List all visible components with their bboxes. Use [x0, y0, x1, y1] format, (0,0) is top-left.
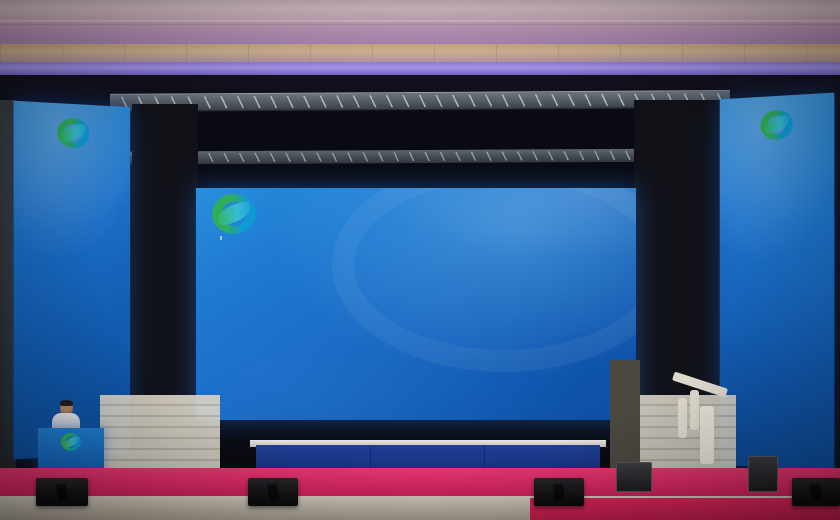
ceiling-ridge	[0, 20, 840, 25]
baluster	[678, 398, 687, 438]
floor-monitor-speaker	[248, 478, 298, 506]
podium-logo	[58, 433, 84, 455]
conference-stage-photo	[0, 0, 840, 520]
main-led-screen	[196, 188, 636, 420]
banner-right	[720, 93, 835, 472]
floor-monitor-speaker	[792, 478, 840, 506]
speaker-hair	[60, 400, 73, 406]
screen-year-block	[210, 236, 222, 240]
ceiling-led-strip	[0, 62, 840, 76]
road-case	[616, 462, 652, 492]
road-case	[748, 456, 778, 492]
hall-ceiling	[0, 0, 840, 46]
balustrade-newel-post	[700, 406, 714, 464]
right-dark-gap	[634, 100, 720, 400]
floor-monitor-speaker	[36, 478, 88, 506]
left-dark-gap	[132, 104, 198, 434]
stone-wall-band	[0, 44, 840, 64]
stage-steps-left	[100, 395, 220, 473]
banner-right-logo	[751, 109, 802, 149]
screen-title-block	[232, 237, 626, 240]
baluster	[690, 390, 699, 430]
staircase-balustrade	[672, 380, 728, 476]
floor-monitor-speaker	[534, 478, 584, 506]
screen-headline	[210, 236, 626, 240]
step-side-wall	[610, 360, 640, 472]
banner-left-logo	[47, 117, 98, 157]
